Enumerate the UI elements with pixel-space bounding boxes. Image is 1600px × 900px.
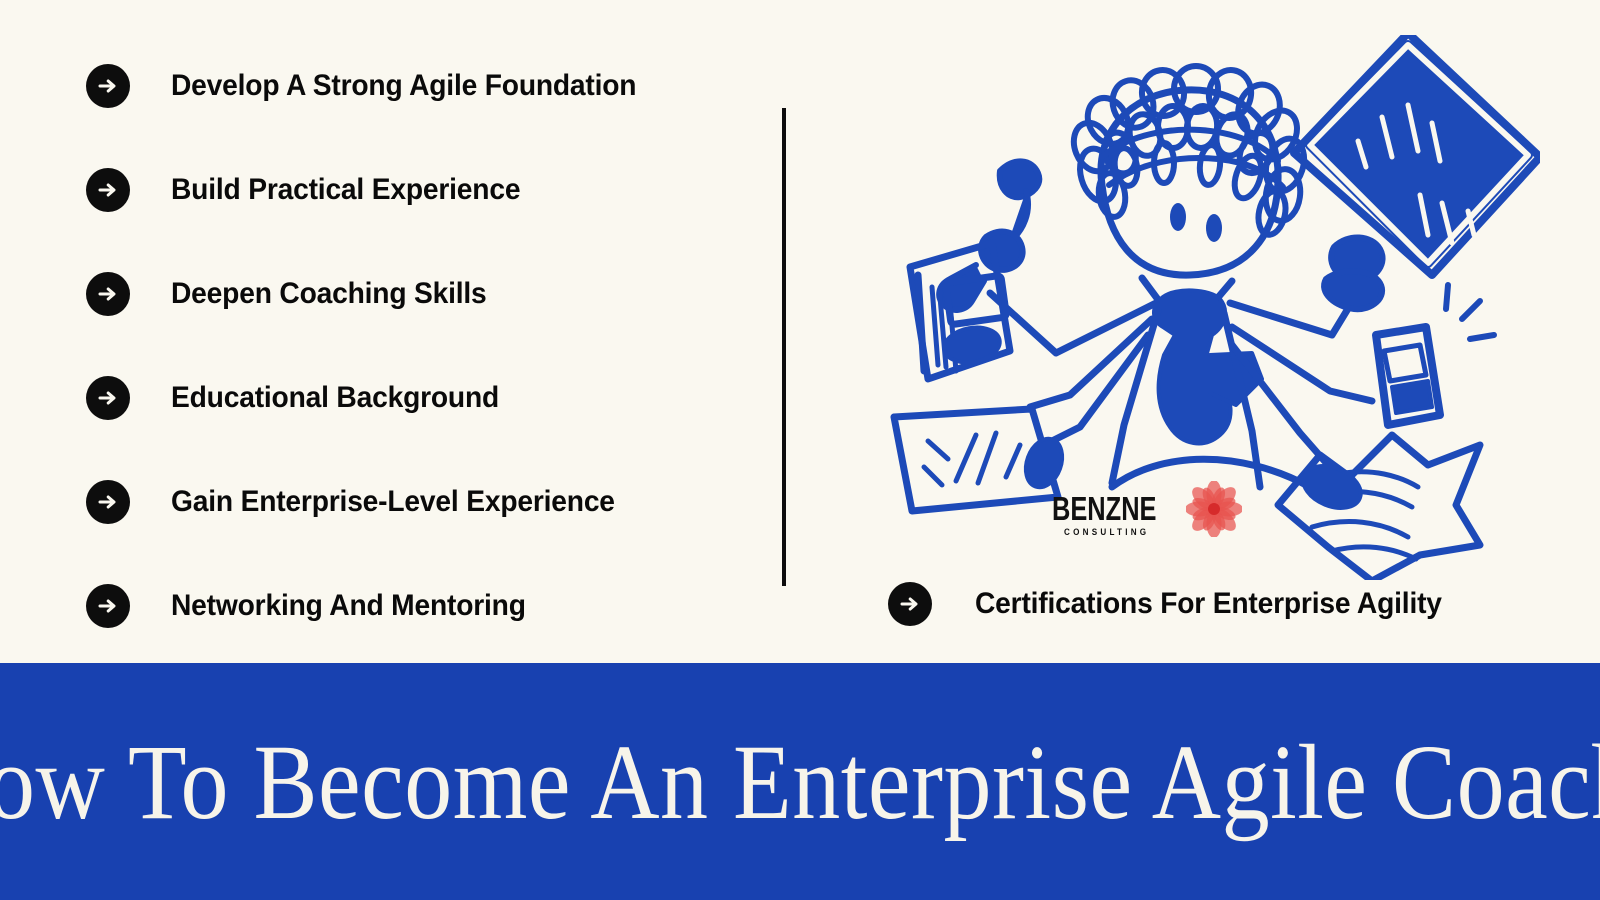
benzne-subtext: CONSULTING [1064, 528, 1149, 537]
list-item-label: Develop A Strong Agile Foundation [171, 69, 636, 103]
list-item[interactable]: Educational Background [86, 372, 746, 424]
page-title: How To Become An Enterprise Agile Coach? [0, 649, 1600, 900]
list-item-label: Networking And Mentoring [171, 589, 526, 623]
list-item-label: Gain Enterprise-Level Experience [171, 485, 615, 519]
arrow-right-circle-icon [86, 168, 130, 212]
arrow-right-circle-icon [888, 582, 932, 626]
title-banner: How To Become An Enterprise Agile Coach? [0, 663, 1600, 900]
list-item-label: Educational Background [171, 381, 499, 415]
benzne-logo: BENZNE CONSULTING [1052, 487, 1242, 542]
benzne-wordmark: BENZNE [1052, 492, 1157, 525]
list-item-label: Certifications For Enterprise Agility [975, 587, 1442, 621]
list-item[interactable]: Gain Enterprise-Level Experience [86, 476, 746, 528]
arrow-right-circle-icon [86, 272, 130, 316]
steps-list-right: Certifications For Enterprise Agility [888, 578, 1472, 630]
list-item-label: Build Practical Experience [171, 173, 520, 207]
list-item[interactable]: Certifications For Enterprise Agility [888, 578, 1472, 630]
steps-list-left: Develop A Strong Agile Foundation Build … [86, 60, 746, 632]
arrow-right-circle-icon [86, 584, 130, 628]
benzne-wordmark-wrap: BENZNE CONSULTING [1052, 492, 1179, 537]
list-item-label: Deepen Coaching Skills [171, 277, 487, 311]
arrow-right-circle-icon [86, 64, 130, 108]
arrow-right-circle-icon [86, 480, 130, 524]
list-item[interactable]: Develop A Strong Agile Foundation [86, 60, 746, 112]
list-item[interactable]: Deepen Coaching Skills [86, 268, 746, 320]
content-area: Develop A Strong Agile Foundation Build … [0, 0, 1600, 663]
infographic-canvas: Develop A Strong Agile Foundation Build … [0, 0, 1600, 900]
vertical-divider [782, 108, 786, 586]
arrow-right-circle-icon [86, 376, 130, 420]
list-item[interactable]: Networking And Mentoring [86, 580, 746, 632]
flower-icon [1186, 481, 1242, 542]
list-item[interactable]: Build Practical Experience [86, 164, 746, 216]
